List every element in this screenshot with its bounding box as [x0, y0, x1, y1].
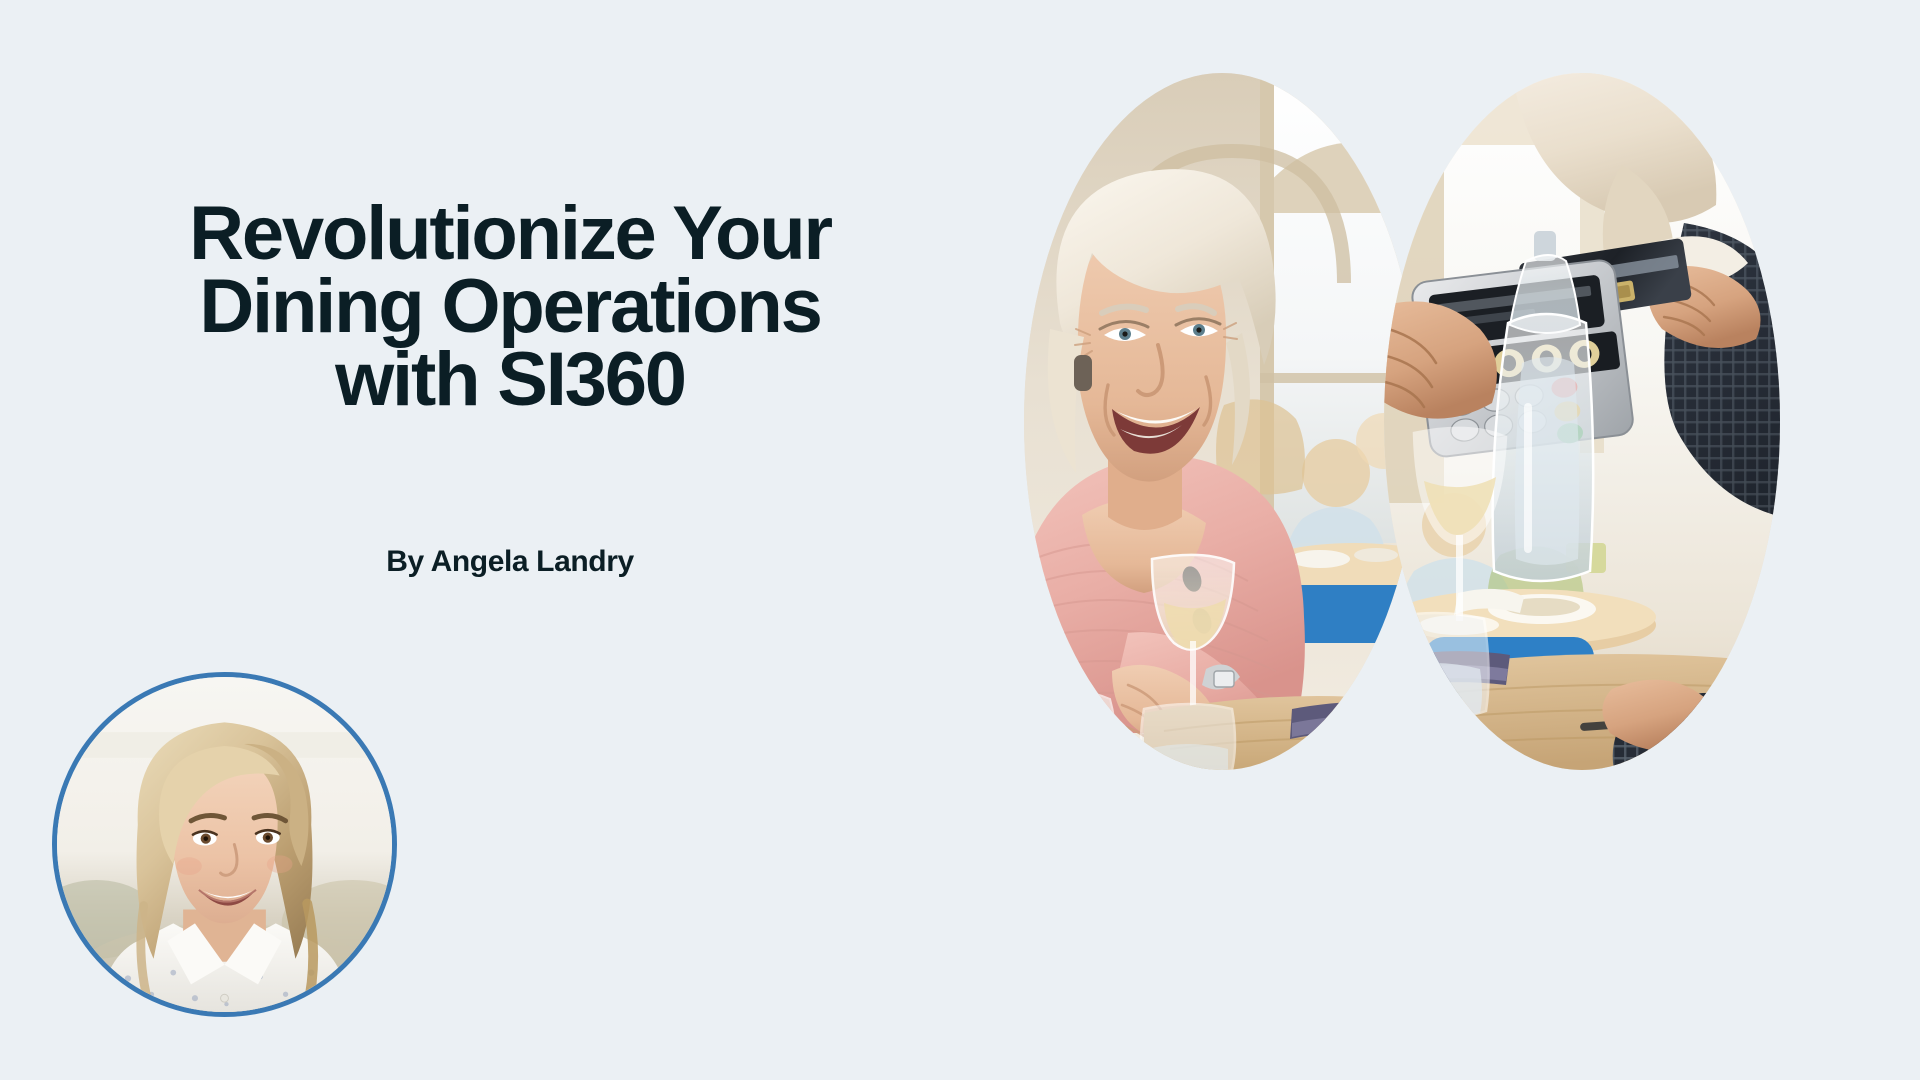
avatar-portrait-image [57, 677, 392, 1012]
text-column: Revolutionize Your Dining Operations wit… [0, 0, 1010, 1080]
headline-line-3: with SI360 [60, 344, 960, 417]
diners-photo [1024, 73, 1420, 770]
author-byline: By Angela Landry [60, 545, 960, 579]
headline-line-2: Dining Operations [60, 271, 960, 344]
hero-image-payment [1384, 73, 1780, 770]
headline-line-1: Revolutionize Your [60, 198, 960, 271]
hero-image-diners [1024, 73, 1420, 770]
avatar [52, 672, 397, 1017]
presentation-slide: Revolutionize Your Dining Operations wit… [0, 0, 1920, 1080]
payment-photo [1384, 73, 1780, 770]
hero-image-cluster [1010, 0, 1920, 1080]
page-title: Revolutionize Your Dining Operations wit… [60, 198, 960, 417]
